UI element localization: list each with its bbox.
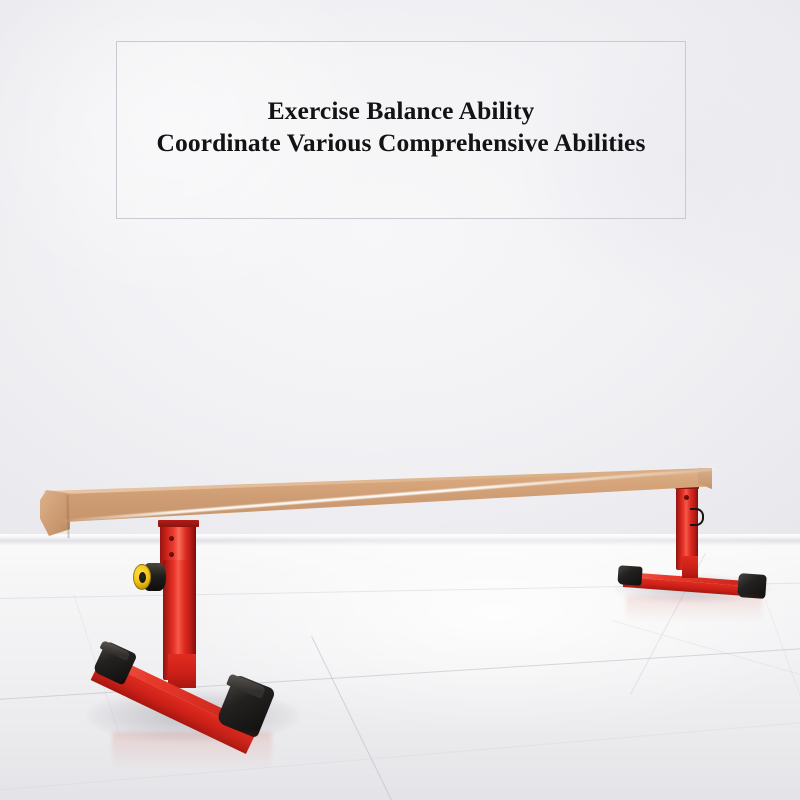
- left-base-rear-stub: [168, 654, 196, 688]
- reflection-right-base: [626, 596, 762, 622]
- balance-beam-plank: [40, 468, 712, 540]
- title-line-1: Exercise Balance Ability: [157, 95, 646, 127]
- title-text-block: Exercise Balance Ability Coordinate Vari…: [157, 95, 646, 164]
- right-base-rear-stub-face: [682, 556, 698, 578]
- knob-yellow-dial: [133, 564, 151, 590]
- beam-side-face: [40, 468, 712, 538]
- left-post-sleeve-bolt-upper: [169, 536, 174, 541]
- title-line-2: Coordinate Various Comprehensive Abiliti…: [157, 127, 646, 159]
- title-card: Exercise Balance Ability Coordinate Vari…: [116, 41, 686, 219]
- left-post-sleeve-bolt-lower: [169, 552, 174, 557]
- left-post-top-bracket: [158, 520, 199, 527]
- right-base-foot-cap-left: [617, 565, 642, 586]
- right-base-rear-stub: [682, 556, 698, 578]
- product-photo-scene: Exercise Balance Ability Coordinate Vari…: [0, 0, 800, 800]
- left-base-rear-stub-face: [168, 654, 196, 688]
- right-base-foot-cap-right: [737, 573, 767, 599]
- height-adjustment-knob[interactable]: [133, 563, 166, 591]
